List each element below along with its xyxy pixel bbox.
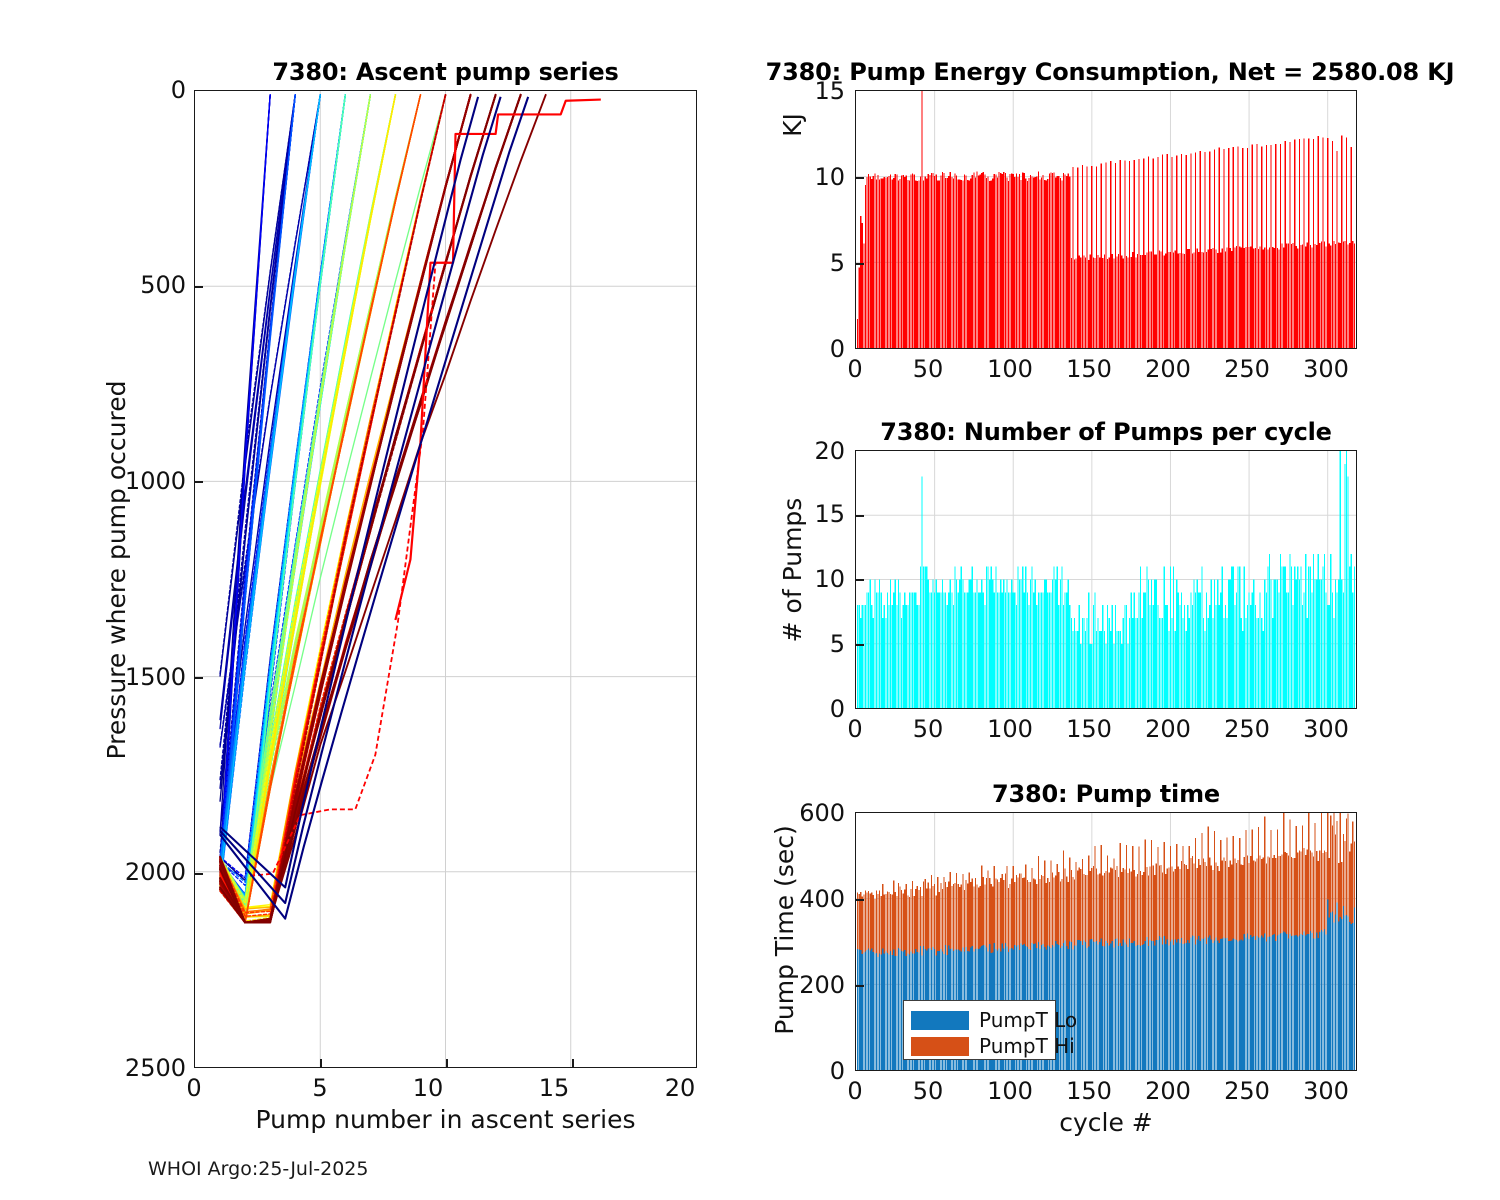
pumptime-xtick-300: 300 xyxy=(1297,1077,1355,1105)
pumptime-xaxis-label: cycle # xyxy=(855,1108,1357,1137)
number-of-pumps-plot xyxy=(855,450,1357,709)
ascent-ytickmark-1000 xyxy=(194,481,203,483)
energy-xtick-50: 50 xyxy=(905,355,951,383)
energy-xtick-200: 200 xyxy=(1139,355,1197,383)
ascent-ytick-0: 0 xyxy=(124,76,186,104)
pumps-xtick-50: 50 xyxy=(905,715,951,743)
pump-energy-plot xyxy=(855,90,1357,349)
pumptime-xtick-50: 50 xyxy=(905,1077,951,1105)
ascent-xaxis-label: Pump number in ascent series xyxy=(194,1105,697,1134)
pumps-yaxis-label: # of Pumps xyxy=(778,435,807,705)
pumps-ytickmark-15 xyxy=(855,515,864,517)
legend-swatch-pumpt-lo xyxy=(911,1011,969,1030)
figure-canvas: 7380: Ascent pump series 0 500 1000 1500… xyxy=(0,0,1500,1200)
energy-ytick-5: 5 xyxy=(790,249,845,277)
pumptime-xtick-250: 250 xyxy=(1218,1077,1276,1105)
pumptime-panel-title: 7380: Pump time xyxy=(855,780,1357,808)
pump-time-legend[interactable]: PumpT Lo PumpT Hi xyxy=(903,1000,1056,1060)
energy-panel-title: 7380: Pump Energy Consumption, Net = 258… xyxy=(760,58,1460,86)
legend-row-pumpt-lo[interactable]: PumpT Lo xyxy=(911,1007,1046,1033)
pumps-xtick-250: 250 xyxy=(1218,715,1276,743)
energy-xtick-250: 250 xyxy=(1218,355,1276,383)
pumps-xtick-0: 0 xyxy=(835,715,875,743)
legend-swatch-pumpt-hi xyxy=(911,1037,969,1056)
energy-xtick-0: 0 xyxy=(835,355,875,383)
legend-row-pumpt-hi[interactable]: PumpT Hi xyxy=(911,1033,1046,1059)
pumps-xtick-200: 200 xyxy=(1139,715,1197,743)
energy-xtick-150: 150 xyxy=(1060,355,1118,383)
ascent-series-canvas xyxy=(195,91,696,1067)
ascent-ytick-500: 500 xyxy=(124,271,186,299)
pumptime-xtick-100: 100 xyxy=(981,1077,1039,1105)
energy-xtick-100: 100 xyxy=(981,355,1039,383)
footer-credit: WHOI Argo:25-Jul-2025 xyxy=(148,1158,368,1180)
pumptime-xtick-150: 150 xyxy=(1060,1077,1118,1105)
ascent-ytickmark-1500 xyxy=(194,677,203,679)
ascent-pump-series-plot xyxy=(194,90,697,1068)
pumps-panel-title: 7380: Number of Pumps per cycle xyxy=(855,418,1357,446)
pumptime-yaxis-label: Pump Time (sec) xyxy=(770,795,799,1065)
ascent-ytickmark-500 xyxy=(194,286,203,288)
pumps-xtick-300: 300 xyxy=(1297,715,1355,743)
pumptime-ytickmark-400 xyxy=(855,899,864,901)
ascent-xtick-5: 5 xyxy=(300,1074,340,1102)
number-of-pumps-canvas xyxy=(856,451,1356,708)
energy-yaxis-label: KJ xyxy=(778,5,807,245)
pumps-xtick-150: 150 xyxy=(1060,715,1118,743)
pumps-ytickmark-5 xyxy=(855,644,864,646)
ascent-xtick-0: 0 xyxy=(174,1074,214,1102)
energy-ytickmark-5 xyxy=(855,263,864,265)
pumps-ytickmark-10 xyxy=(855,579,864,581)
pumptime-xtick-0: 0 xyxy=(835,1077,875,1105)
legend-label-pumpt-lo: PumpT Lo xyxy=(979,1010,1077,1030)
ascent-xtickmark-15 xyxy=(572,1059,574,1068)
ascent-xtick-10: 10 xyxy=(405,1074,451,1102)
ascent-xtick-15: 15 xyxy=(531,1074,577,1102)
pumps-xtick-100: 100 xyxy=(981,715,1039,743)
pumptime-ytickmark-200 xyxy=(855,985,864,987)
ascent-xtickmark-10 xyxy=(446,1059,448,1068)
energy-ytickmark-10 xyxy=(855,177,864,179)
ascent-yaxis-label: Pressure where pump occured xyxy=(102,90,131,1050)
ascent-panel-title: 7380: Ascent pump series xyxy=(194,58,697,86)
ascent-ytickmark-2000 xyxy=(194,873,203,875)
ascent-xtick-20: 20 xyxy=(657,1074,703,1102)
pumptime-xtick-200: 200 xyxy=(1139,1077,1197,1105)
energy-xtick-300: 300 xyxy=(1297,355,1355,383)
pump-energy-canvas xyxy=(856,91,1356,348)
legend-label-pumpt-hi: PumpT Hi xyxy=(979,1036,1075,1056)
ascent-xtickmark-5 xyxy=(320,1059,322,1068)
